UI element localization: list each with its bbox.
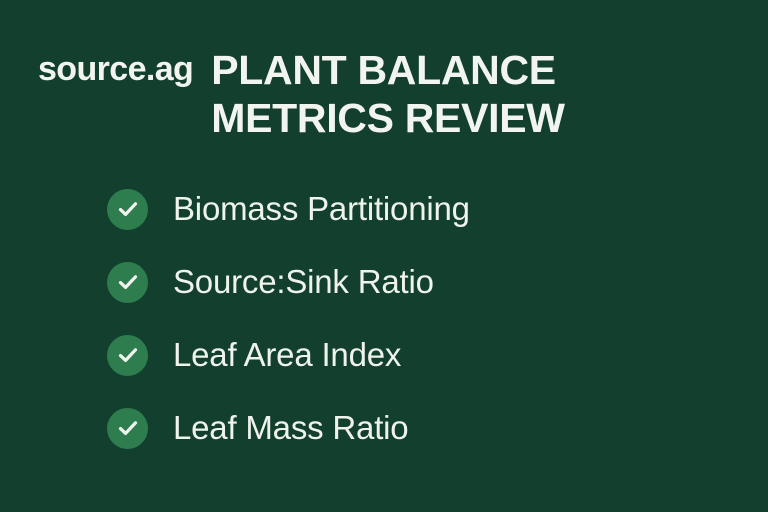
page-title: PLANT BALANCE METRICS REVIEW (211, 46, 564, 142)
slide-canvas: source.ag PLANT BALANCE METRICS REVIEW B… (0, 0, 768, 512)
list-item: Leaf Mass Ratio (107, 407, 470, 449)
list-item-label: Leaf Area Index (173, 334, 401, 376)
title-line-1: PLANT BALANCE (211, 46, 564, 94)
check-icon (107, 408, 148, 449)
title-line-2: METRICS REVIEW (211, 94, 564, 142)
list-item-label: Biomass Partitioning (173, 188, 470, 230)
metrics-checklist: Biomass Partitioning Source:Sink Ratio L… (107, 188, 470, 449)
list-item-label: Leaf Mass Ratio (173, 407, 408, 449)
list-item-label: Source:Sink Ratio (173, 261, 434, 303)
slide-header: source.ag PLANT BALANCE METRICS REVIEW (38, 46, 565, 142)
check-icon (107, 189, 148, 230)
list-item: Leaf Area Index (107, 334, 470, 376)
check-icon (107, 335, 148, 376)
check-icon (107, 262, 148, 303)
list-item: Biomass Partitioning (107, 188, 470, 230)
list-item: Source:Sink Ratio (107, 261, 470, 303)
brand-logo: source.ag (38, 46, 193, 90)
